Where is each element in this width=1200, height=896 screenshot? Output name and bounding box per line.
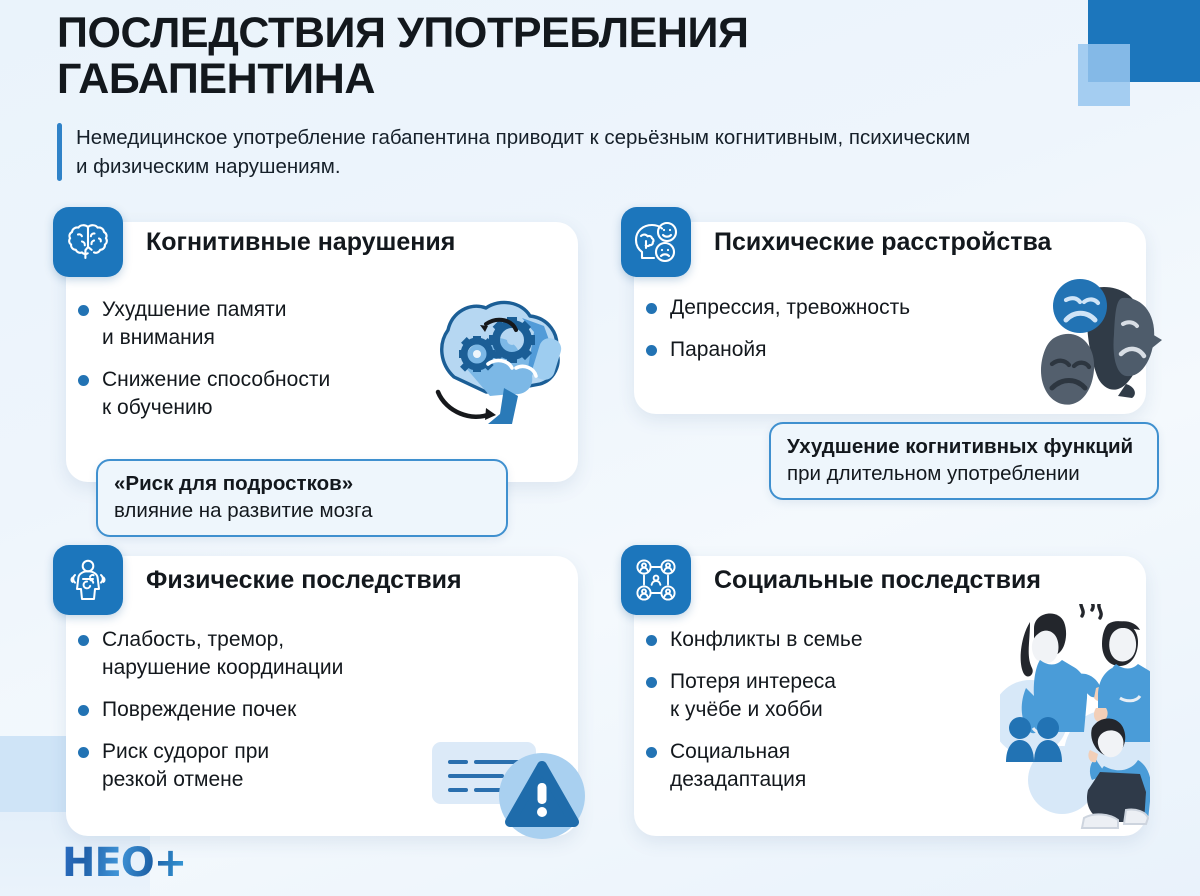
subtitle-accent-bar <box>57 123 62 181</box>
bullet-list-physical: Слабость, тремор, нарушение координации … <box>78 626 478 794</box>
card-title-social: Социальные последствия <box>714 566 1041 595</box>
bullet-text: Повреждение почек <box>102 696 296 724</box>
brain-icon <box>53 207 123 277</box>
card-title-mental: Психические расстройства <box>714 228 1051 257</box>
decor-square-top-right-light <box>1078 44 1130 106</box>
bullet-dot-icon <box>646 303 657 314</box>
card-title-physical: Физические последствия <box>146 566 462 595</box>
bullet-text: Паранойя <box>670 336 767 364</box>
bullet-text: Снижение способности к обучению <box>102 366 330 422</box>
bullet-text: Социальная дезадаптация <box>670 738 806 794</box>
list-item: Социальная дезадаптация <box>646 738 976 794</box>
bullet-list-social: Конфликты в семье Потеря интереса к учёб… <box>646 626 976 794</box>
list-item: Риск судорог при резкой отмене <box>78 738 478 794</box>
callout-bold: «Риск для подростков» <box>114 472 353 495</box>
callout-teen-risk: «Риск для подростков»влияние на развитие… <box>96 459 508 537</box>
subtitle-block: Немедицинское употребление габапентина п… <box>57 123 987 181</box>
header: ПОСЛЕДСТВИЯ УПОТРЕБЛЕНИЯ ГАБАПЕНТИНА Нем… <box>57 10 1057 181</box>
bullet-text: Риск судорог при резкой отмене <box>102 738 269 794</box>
bullet-list-cognitive: Ухудшение памяти и внимания Снижение спо… <box>78 296 438 422</box>
bullet-dot-icon <box>78 375 89 386</box>
people-network-icon <box>621 545 691 615</box>
callout-long-term: Ухудшение когнитивных функций при длител… <box>769 422 1159 500</box>
callout-text: «Риск для подростков»влияние на развитие… <box>114 470 490 524</box>
brand-logo: НЕО+ <box>62 843 186 883</box>
bullet-dot-icon <box>78 635 89 646</box>
callout-bold: Ухудшение когнитивных функций <box>787 435 1133 458</box>
bullet-text: Потеря интереса к учёбе и хобби <box>670 668 836 724</box>
bullet-dot-icon <box>78 705 89 716</box>
bullet-dot-icon <box>646 345 657 356</box>
bullet-dot-icon <box>78 747 89 758</box>
page-subtitle: Немедицинское употребление габапентина п… <box>76 123 987 181</box>
callout-rest: при длительном употреблении <box>787 462 1080 485</box>
human-body-icon <box>53 545 123 615</box>
callout-rest: влияние на развитие мозга <box>114 499 373 522</box>
callout-text: Ухудшение когнитивных функций при длител… <box>787 433 1141 487</box>
list-item: Слабость, тремор, нарушение координации <box>78 626 478 682</box>
list-item: Снижение способности к обучению <box>78 366 438 422</box>
bullet-dot-icon <box>646 677 657 688</box>
bullet-dot-icon <box>646 635 657 646</box>
bullet-list-mental: Депрессия, тревожность Паранойя <box>646 294 1046 364</box>
head-emotions-icon <box>621 207 691 277</box>
page-title: ПОСЛЕДСТВИЯ УПОТРЕБЛЕНИЯ ГАБАПЕНТИНА <box>57 10 797 103</box>
bullet-dot-icon <box>78 305 89 316</box>
list-item: Повреждение почек <box>78 696 478 724</box>
list-item: Паранойя <box>646 336 1046 364</box>
list-item: Потеря интереса к учёбе и хобби <box>646 668 976 724</box>
bullet-dot-icon <box>646 747 657 758</box>
bullet-text: Конфликты в семье <box>670 626 863 654</box>
list-item: Ухудшение памяти и внимания <box>78 296 438 352</box>
bullet-text: Слабость, тремор, нарушение координации <box>102 626 343 682</box>
card-title-cognitive: Когнитивные нарушения <box>146 228 455 257</box>
list-item: Депрессия, тревожность <box>646 294 1046 322</box>
list-item: Конфликты в семье <box>646 626 976 654</box>
bullet-text: Ухудшение памяти и внимания <box>102 296 287 352</box>
decor-square-top-right-dark <box>1088 0 1200 82</box>
bullet-text: Депрессия, тревожность <box>670 294 910 322</box>
